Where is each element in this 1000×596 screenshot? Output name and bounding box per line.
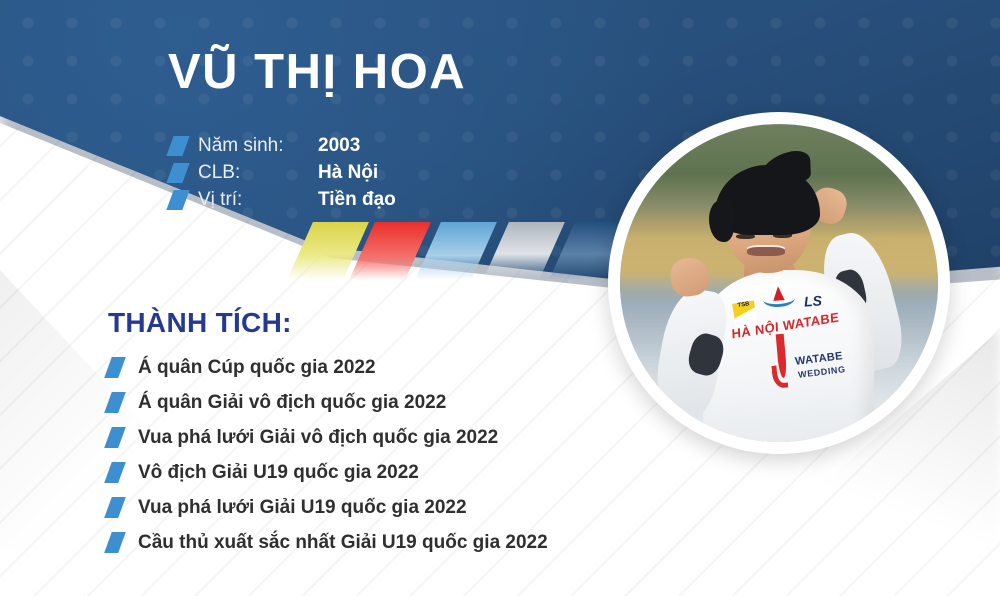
player-profile-card: VŨ THỊ HOA Năm sinh: 2003 CLB: Hà Nội Vị… — [0, 0, 1000, 596]
slash-icon — [104, 427, 126, 448]
info-row-position: Vị trí: Tiền đạo — [170, 186, 396, 213]
info-label: CLB: — [198, 162, 318, 184]
photo-mouth — [747, 245, 785, 256]
list-item: Vua phá lưới Giải U19 quốc gia 2022 — [108, 490, 548, 525]
achievements-title: THÀNH TÍCH: — [108, 307, 292, 339]
slash-icon — [104, 357, 126, 378]
player-info-block: Năm sinh: 2003 CLB: Hà Nội Vị trí: Tiền … — [170, 132, 396, 213]
slash-icon — [104, 462, 126, 483]
jersey-logo-mv — [763, 290, 796, 308]
slash-icon — [166, 163, 189, 183]
info-value: Hà Nội — [318, 162, 378, 184]
achievement-text: Vô địch Giải U19 quốc gia 2022 — [138, 462, 419, 484]
achievement-text: Á quân Giải vô địch quốc gia 2022 — [138, 392, 446, 414]
slash-icon — [104, 392, 126, 413]
slash-icon — [166, 136, 189, 156]
list-item: Vua phá lưới Giải vô địch quốc gia 2022 — [108, 420, 548, 455]
jersey-logo-ls: LS — [804, 292, 823, 309]
slash-icon — [104, 532, 126, 553]
slash-icon — [104, 497, 126, 518]
list-item: Vô địch Giải U19 quốc gia 2022 — [108, 455, 548, 490]
slash-icon — [166, 190, 189, 210]
list-item: Á quân Giải vô địch quốc gia 2022 — [108, 385, 548, 420]
player-photo: TSB LS HÀ NỘI WATABE WATABE WEDDING — [620, 124, 938, 442]
info-label: Năm sinh: — [198, 135, 318, 157]
info-value: 2003 — [318, 135, 360, 157]
info-row-club: CLB: Hà Nội — [170, 159, 396, 186]
info-label: Vị trí: — [198, 189, 318, 211]
jersey-logo-j — [767, 333, 797, 389]
achievement-text: Vua phá lưới Giải vô địch quốc gia 2022 — [138, 427, 498, 449]
list-item: Cầu thủ xuất sắc nhất Giải U19 quốc gia … — [108, 525, 548, 560]
info-value: Tiền đạo — [318, 189, 396, 211]
list-item: Á quân Cúp quốc gia 2022 — [108, 350, 548, 385]
achievement-text: Vua phá lưới Giải U19 quốc gia 2022 — [138, 497, 467, 519]
info-row-birth-year: Năm sinh: 2003 — [170, 132, 396, 159]
achievements-list: Á quân Cúp quốc gia 2022 Á quân Giải vô … — [108, 350, 548, 560]
player-name: VŨ THỊ HOA — [168, 48, 466, 97]
photo-hair-side — [709, 200, 734, 241]
achievement-text: Cầu thủ xuất sắc nhất Giải U19 quốc gia … — [138, 532, 548, 554]
achievement-text: Á quân Cúp quốc gia 2022 — [138, 357, 376, 379]
